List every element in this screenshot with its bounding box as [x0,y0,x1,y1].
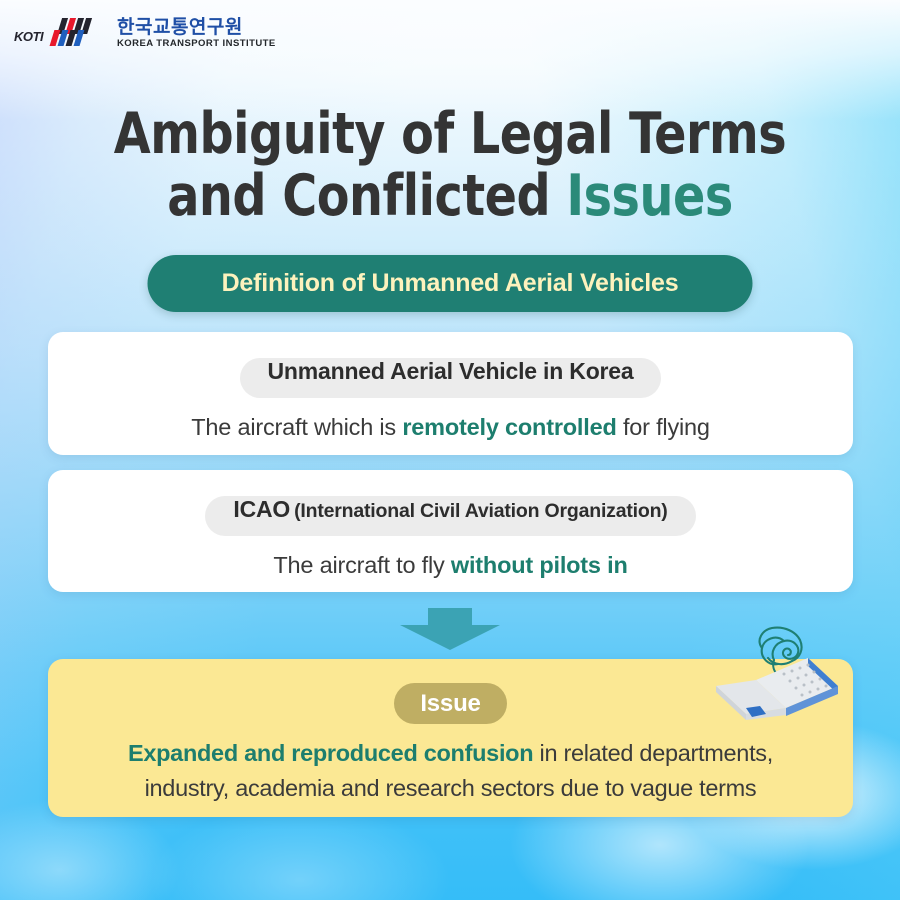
definition-icao-text-pre: The aircraft to fly [273,552,451,578]
koti-logo-korean: 한국교통연구원 [117,15,257,37]
definition-korea-highlight: remotely controlled [402,414,616,440]
definition-card-icao-pill: ICAO (International Civil Aviation Organ… [205,496,695,536]
koti-logo: KOTI 한국교통연구원 KOREA TRANSPORT INSTITUTE [14,12,276,52]
definition-card-korea: Unmanned Aerial Vehicle in Korea The air… [48,332,853,455]
page-title: Ambiguity of Legal Terms and Conflicted … [0,103,900,227]
definition-card-korea-pill: Unmanned Aerial Vehicle in Korea [240,358,662,398]
issue-text: Expanded and reproduced confusion in rel… [71,736,831,806]
issue-text-highlight: Expanded and reproduced confusion [128,740,533,766]
issue-pill-label: Issue [420,690,480,718]
koti-korean-text: 한국교통연구원 [117,16,243,37]
definition-card-icao-body: The aircraft to fly without pilots in [273,552,627,579]
issue-text-line2: industry, academia and research sectors … [145,775,757,801]
definition-card-korea-pill-label: Unmanned Aerial Vehicle in Korea [268,358,634,385]
koti-logo-english: KOREA TRANSPORT INSTITUTE [117,38,276,49]
down-arrow-icon [400,608,500,650]
issue-pill: Issue [394,683,506,724]
page-title-line2: and Conflicted Issues [32,165,869,227]
koti-logo-text: 한국교통연구원 KOREA TRANSPORT INSTITUTE [117,15,276,49]
page-title-accent: Issues [566,163,732,229]
definition-korea-text-post: for flying [617,414,710,440]
definition-card-icao-pill-label: ICAO [233,496,290,523]
definition-korea-text-pre: The aircraft which is [191,414,402,440]
definition-card-korea-body: The aircraft which is remotely controlle… [191,414,710,441]
definition-icao-highlight: without pilots in [451,552,628,578]
page-title-line2-plain: and Conflicted [167,163,566,229]
section-banner-label: Definition of Unmanned Aerial Vehicles [222,269,679,298]
poster-root: KOTI 한국교통연구원 KOREA TRANSPORT INSTITUTE A… [0,0,900,900]
issue-card: Issue Expanded and reproduced confusion … [48,659,853,817]
section-banner-definition: Definition of Unmanned Aerial Vehicles [148,255,753,312]
definition-card-icao-pill-sublabel: (International Civil Aviation Organizati… [294,500,667,523]
definition-card-icao: ICAO (International Civil Aviation Organ… [48,470,853,592]
svg-text:KOTI: KOTI [14,29,44,44]
koti-logo-mark: KOTI [14,15,110,49]
issue-text-rest-line1: in related departments, [533,740,773,766]
page-title-line1: Ambiguity of Legal Terms [32,103,869,165]
